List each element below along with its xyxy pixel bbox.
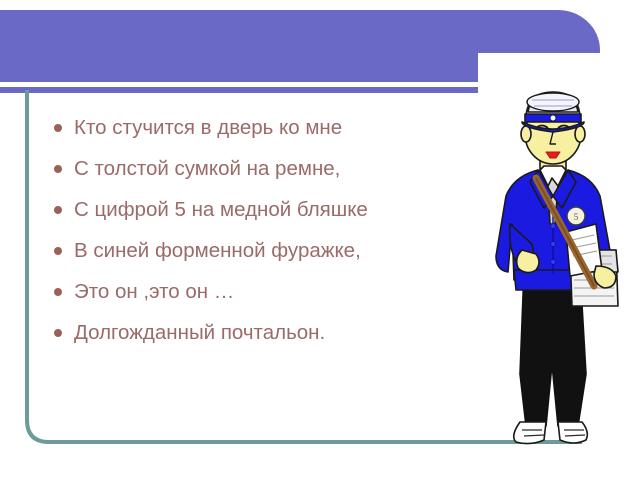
svg-text:5: 5: [574, 212, 579, 222]
bullet-text: Это он ,это он …: [74, 280, 234, 303]
list-item: С цифрой 5 на медной бляшке: [52, 194, 472, 225]
bullet-text: В синей форменной фуражке,: [74, 239, 361, 262]
header-banner-main: [0, 10, 478, 82]
postman-clipart-icon: 5: [466, 74, 640, 446]
slide-canvas: Кто стучится в дверь ко мне С толстой су…: [0, 0, 640, 480]
bullet-text: С цифрой 5 на медной бляшке: [74, 198, 368, 221]
header-banner-underline-strip: [0, 87, 478, 93]
bullet-dot-icon: [54, 206, 62, 214]
bullet-dot-icon: [54, 165, 62, 173]
bullet-dot-icon: [54, 288, 62, 296]
bullet-text: С толстой сумкой на ремне,: [74, 157, 340, 180]
header-banner-rounded-cap: [478, 10, 600, 53]
bullet-text: Кто стучится в дверь ко мне: [74, 116, 342, 139]
bullet-dot-icon: [54, 247, 62, 255]
list-item: В синей форменной фуражке,: [52, 235, 472, 266]
poem-bullet-list: Кто стучится в дверь ко мне С толстой су…: [52, 112, 472, 358]
list-item: Это он ,это он …: [52, 276, 472, 307]
list-item: Долгожданный почтальон.: [52, 317, 472, 348]
list-item: Кто стучится в дверь ко мне: [52, 112, 472, 143]
bullet-dot-icon: [54, 124, 62, 132]
bullet-text: Долгожданный почтальон.: [74, 321, 325, 344]
list-item: С толстой сумкой на ремне,: [52, 153, 472, 184]
bullet-dot-icon: [54, 329, 62, 337]
